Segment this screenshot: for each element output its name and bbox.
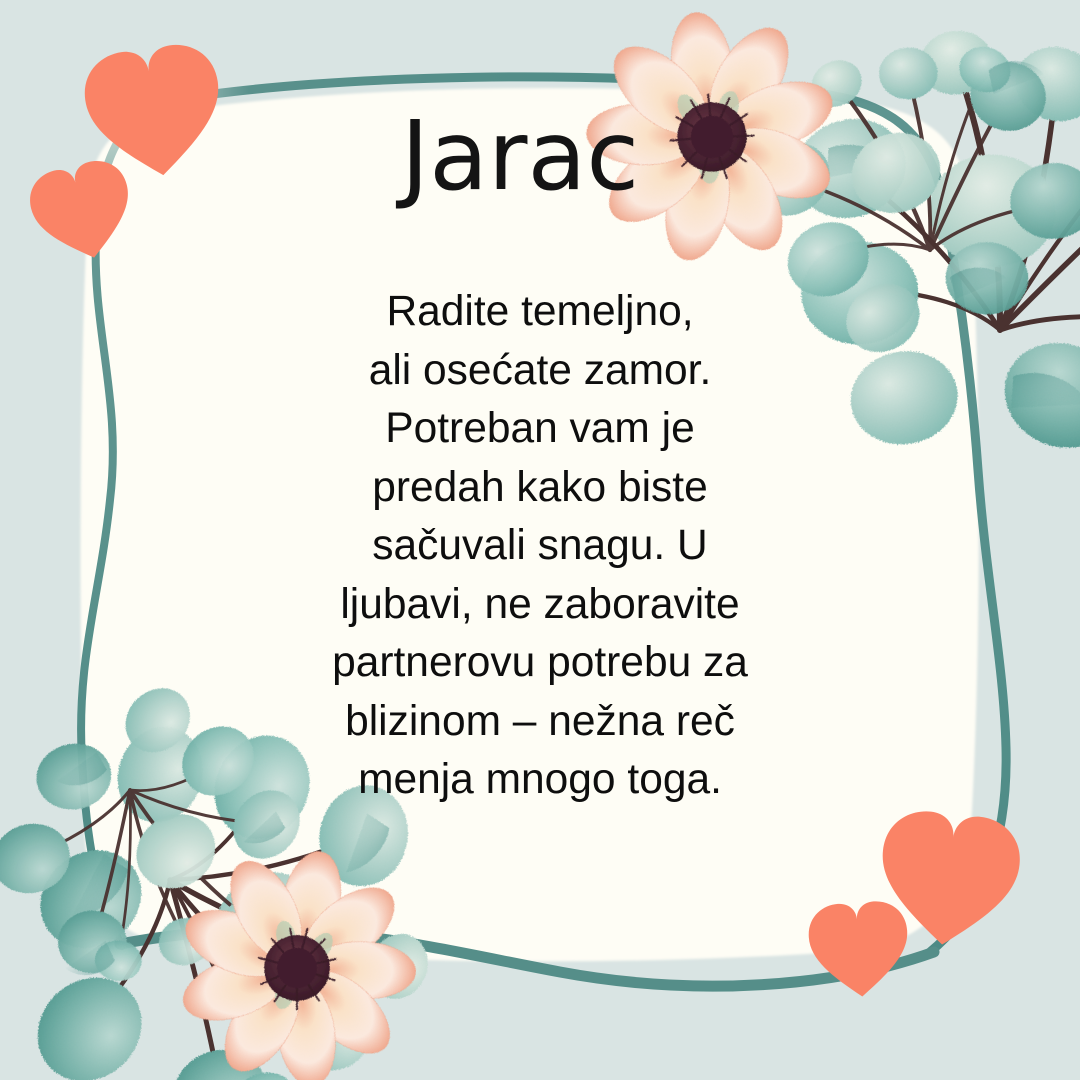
horoscope-card-canvas: Jarac Radite temeljno, ali osećate zamor… bbox=[0, 0, 1080, 1080]
hearts-decor bbox=[0, 0, 1080, 1080]
heart-icon-bottom-right-small bbox=[807, 899, 912, 1000]
heart-icon-top-left-small bbox=[24, 154, 142, 269]
